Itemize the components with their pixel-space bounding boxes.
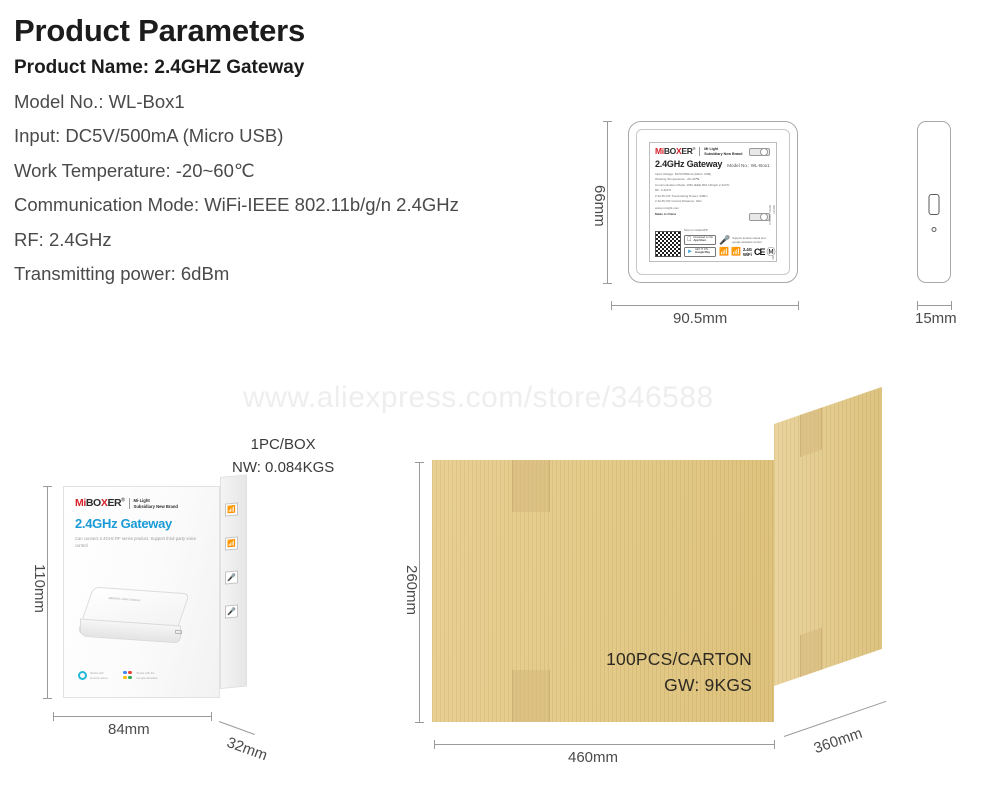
carton-tape-right-top xyxy=(800,407,822,457)
retail-box-header: 1PC/BOX NW: 0.084KGS xyxy=(232,434,334,479)
carton-quantity-label: 100PCS/CARTON xyxy=(606,647,752,672)
retail-box-feature-icons: 📶 📶 🎤 🎤 xyxy=(225,503,245,639)
carton-gross-weight-label: GW: 9KGS xyxy=(606,673,752,698)
wifi-icon: 📶 xyxy=(225,536,238,550)
spec-line-communication-mode: Communication Mode: WiFi-IEEE 802.11b/g/… xyxy=(14,196,594,215)
label-fine-print: Input Voltage: DC5V/500mA (Micro USB) Wo… xyxy=(655,172,771,217)
spec-line-work-temperature: Work Temperature: -20~60℃ xyxy=(14,162,594,181)
retail-box-device-render: MiBOXER 2.4GHz Gateway xyxy=(78,590,186,652)
wifi-2g4-icon: 📶 xyxy=(225,502,238,516)
app-store-badge:  Download on theApp Store xyxy=(684,235,716,245)
apple-icon:  xyxy=(687,237,692,243)
app-store-text: Download on theApp Store xyxy=(694,237,713,243)
app-store-badges: Scan to Install APP  Download on theApp… xyxy=(684,228,716,257)
carton-right-face xyxy=(774,387,882,686)
device-depth-cap-right xyxy=(951,301,952,310)
miboxer-logo: MiBOXER® xyxy=(655,147,695,156)
microphone-icon: 🎤 xyxy=(719,236,730,245)
product-name-line: Product Name: 2.4GHZ Gateway xyxy=(14,57,594,80)
label-input-voltage-vertical: DC5V / 500mA xyxy=(767,205,771,225)
carton-tape-right-bottom xyxy=(800,627,822,677)
google-play-badge: ► GET IT ONGoogle Play xyxy=(684,247,716,257)
logo-er: ER xyxy=(681,146,692,156)
label-title-row: 2.4GHz Gateway Model No.: WL-Box1 xyxy=(655,159,771,169)
device-depth-dimline xyxy=(917,305,951,306)
retail-box-title: 2.4GHz Gateway xyxy=(75,516,209,531)
wifi-caption: 2.4G WiFi xyxy=(743,247,752,257)
logo-registered-mark: ® xyxy=(693,146,696,151)
carton-front-face: 100PCS/CARTON GW: 9KGS xyxy=(432,460,774,722)
carton-tape-front-bottom xyxy=(512,670,550,722)
reset-hole-icon xyxy=(932,227,937,232)
google-assistant-badge: Works with theGoogle Assistant xyxy=(123,671,157,680)
voice-assistant-note: 🎤 Support amazon alexa andgoogle assista… xyxy=(719,236,777,245)
page-title: Product Parameters xyxy=(14,14,594,48)
label-model-number: Model No.: WL-Box1 xyxy=(727,163,769,168)
carton-tape-front-top xyxy=(512,460,550,512)
device-width-cap-right xyxy=(798,301,799,310)
led-indicator-top xyxy=(749,148,770,156)
device-depth-label: 15mm xyxy=(915,311,957,326)
retail-box-width-label: 84mm xyxy=(108,722,150,737)
carton-text-labels: 100PCS/CARTON GW: 9KGS xyxy=(606,647,752,698)
retail-box-miboxer-logo: MiBOXER® xyxy=(75,498,125,509)
retail-box-qty: 1PC/BOX xyxy=(232,434,334,457)
rohs-icon: Ⓜ xyxy=(767,248,776,257)
carton-height-cap-top xyxy=(415,462,424,463)
retail-box-tagline-2: Subsidiary New Brand xyxy=(134,504,178,509)
retail-box-height-label: 110mm xyxy=(32,564,47,613)
google-play-icon: ► xyxy=(687,249,693,255)
carton-width-cap-right xyxy=(774,740,775,749)
device-width-dimline xyxy=(611,305,798,306)
google-play-text: GET IT ONGoogle Play xyxy=(695,249,710,255)
store-watermark: www.aliexpress.com/store/346588 xyxy=(243,381,714,415)
logo-bo: BO xyxy=(664,146,676,156)
carton-height-cap-bottom xyxy=(415,722,424,723)
wifi-icon-1: 📶 xyxy=(719,248,729,256)
retail-box-front-face: MiBOXER® Mi·Light Subsidiary New Brand 2… xyxy=(63,486,220,698)
spec-line-model: Model No.: WL-Box1 xyxy=(14,93,594,112)
shipping-carton-illustration: 100PCS/CARTON GW: 9KGS xyxy=(432,424,882,734)
google-assistant-badge-text: Works with theGoogle Assistant xyxy=(136,671,157,679)
retail-box-width-cap-left xyxy=(53,712,54,721)
ce-mark-icon: CE xyxy=(754,248,765,257)
wifi-icon-2: 📶 xyxy=(731,248,741,256)
label-icon-strip: Scan to Install APP  Download on theApp… xyxy=(655,228,771,257)
micro-usb-port-icon xyxy=(929,194,940,215)
carton-height-label: 260mm xyxy=(404,565,419,615)
spec-line-transmitting-power: Transmitting power: 6dBm xyxy=(14,265,594,284)
retail-box-logo-divider xyxy=(129,498,130,509)
device-height-cap-top xyxy=(603,121,612,122)
qr-code-icon xyxy=(655,231,681,257)
logo-divider xyxy=(699,147,700,156)
voice-control-icon: 🎤 xyxy=(225,570,238,584)
device-product-label: MiBOXER® Mi·Light Subsidiary New Brand 2… xyxy=(649,142,777,262)
retail-box-width-cap-right xyxy=(211,712,212,721)
microphone-icon: 🎤 xyxy=(225,604,238,618)
retail-box-width-dimline xyxy=(53,716,211,717)
retail-box-height-cap-top xyxy=(43,486,52,487)
scan-install-note: Scan to Install APP xyxy=(684,228,716,232)
product-parameters-section: Product Parameters Product Name: 2.4GHZ … xyxy=(14,14,594,300)
tagline-line-2: Subsidiary New Brand xyxy=(704,152,742,156)
carton-width-dimline xyxy=(434,744,774,745)
device-depth-cap-left xyxy=(917,301,918,310)
retail-box-depth-dimline xyxy=(219,721,255,735)
voice-assistant-text: Support amazon alexa andgoogle assistant… xyxy=(732,237,765,244)
retail-box-depth-label: 32mm xyxy=(225,735,269,763)
device-width-label: 90.5mm xyxy=(673,311,727,326)
device-bezel: MiBOXER® Mi·Light Subsidiary New Brand 2… xyxy=(636,129,790,275)
certification-row: 📶 📶 2.4G WiFi CE Ⓜ ♻ xyxy=(719,247,777,257)
retail-box-illustration: MiBOXER® Mi·Light Subsidiary New Brand 2… xyxy=(63,477,283,707)
retail-box-net-weight: NW: 0.084KGS xyxy=(232,457,334,480)
spec-line-input: Input: DC5V/500mA (Micro USB) xyxy=(14,127,594,146)
label-product-title: 2.4GHz Gateway xyxy=(655,159,722,169)
device-width-cap-left xyxy=(611,301,612,310)
google-assistant-icon xyxy=(123,671,133,680)
device-render-usb-port xyxy=(175,630,182,634)
alexa-badge-text: Works withamazon alexa xyxy=(90,671,107,679)
label-tagline: Mi·Light Subsidiary New Brand xyxy=(704,147,742,156)
device-front-view: MiBOXER® Mi·Light Subsidiary New Brand 2… xyxy=(628,121,798,283)
device-side-view xyxy=(917,121,951,283)
retail-box-tagline: Mi·Light Subsidiary New Brand xyxy=(134,498,178,509)
logo-mi: Mi xyxy=(655,146,664,156)
alexa-icon xyxy=(78,671,87,680)
carton-width-label: 460mm xyxy=(568,750,618,765)
alexa-badge: Works withamazon alexa xyxy=(78,671,107,680)
carton-width-cap-left xyxy=(434,740,435,749)
retail-box-description: Can connect 2.4GHz RF series product. Su… xyxy=(75,535,209,549)
retail-box-voice-badges: Works withamazon alexa Works with theGoo… xyxy=(78,671,157,680)
spec-line-rf: RF: 2.4GHz xyxy=(14,231,594,250)
device-height-cap-bottom xyxy=(603,283,612,284)
retail-box-height-cap-bottom xyxy=(43,698,52,699)
retail-box-brand-row: MiBOXER® Mi·Light Subsidiary New Brand xyxy=(75,498,209,509)
device-height-label: 66mm xyxy=(592,185,607,227)
